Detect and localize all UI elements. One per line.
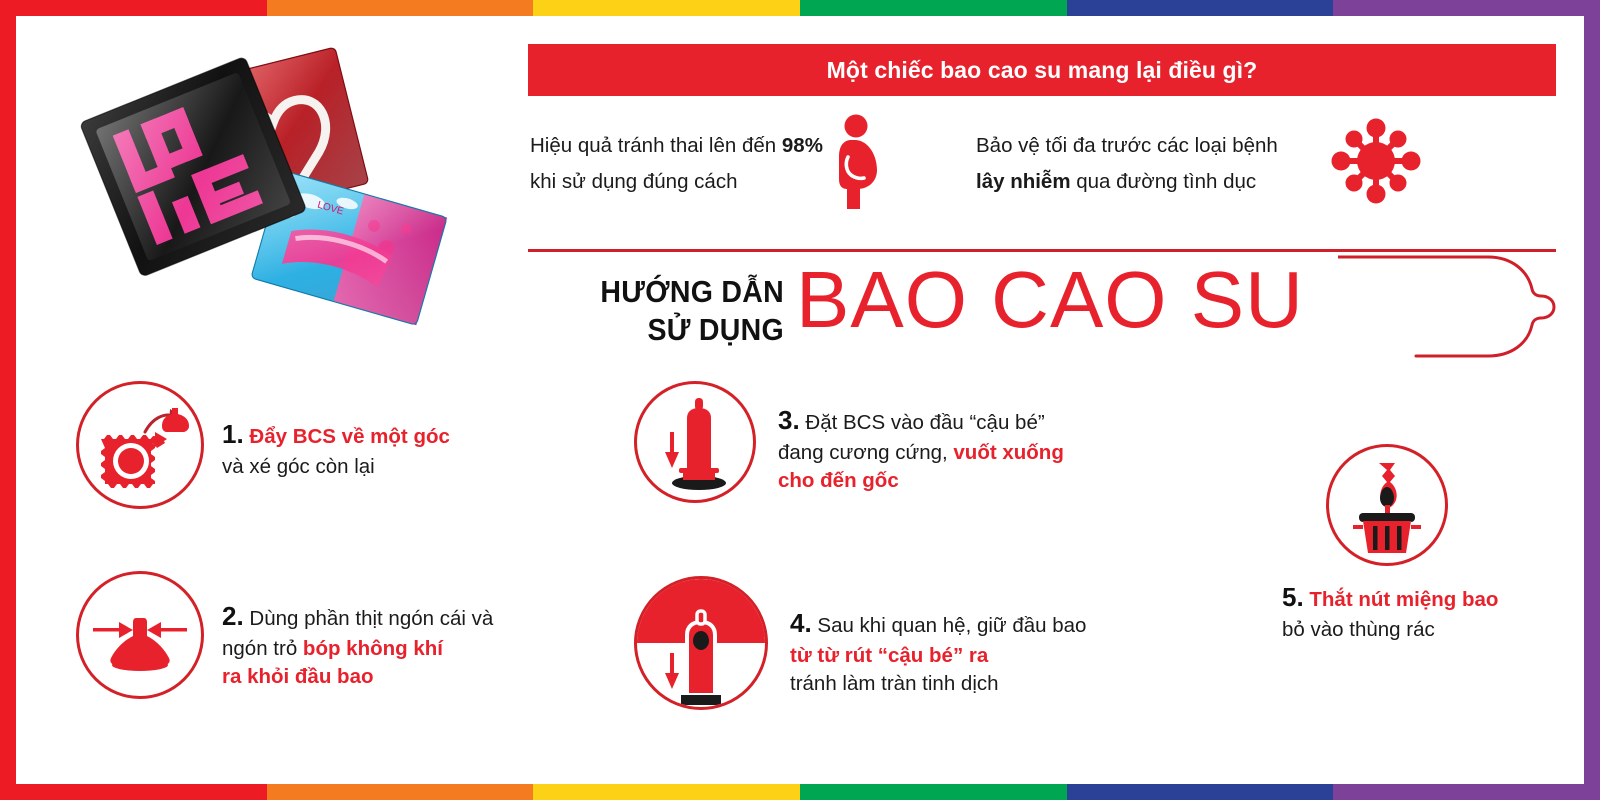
step-3-line2b: vuốt xuống: [953, 441, 1063, 464]
condom-packets-photo: LOVE: [66, 41, 466, 341]
infographic-canvas: LOVE: [16, 16, 1584, 784]
frame-edge-right: [1584, 16, 1600, 784]
stripe-blue: [1067, 0, 1334, 16]
step-5-line2: bỏ vào thùng rác: [1282, 618, 1435, 641]
step-1-icon-circle: [76, 381, 204, 509]
step-2: 2. Dùng phần thịt ngón cái và ngón trỏ b…: [76, 571, 493, 699]
title-kicker-line1: HƯỚNG DẪN: [554, 273, 784, 311]
condom-roll-down-icon: [637, 384, 753, 500]
benefit-sti-line2: qua đường tình dục: [1071, 170, 1257, 193]
stripe-orange: [267, 784, 534, 800]
virus-icon: [1330, 117, 1422, 210]
stripe-purple: [1333, 0, 1600, 16]
step-2-text: 2. Dùng phần thịt ngón cái và ngón trỏ b…: [222, 599, 493, 699]
step-5-icon-circle: [1326, 444, 1448, 566]
stripe-yellow: [533, 784, 800, 800]
stripe-purple: [1333, 784, 1600, 800]
title-bigword: BAO CAO SU: [796, 257, 1304, 343]
step-3: 3. Đặt BCS vào đầu “cậu bé” đang cương c…: [634, 381, 1064, 503]
step-5-text: 5. Thắt nút miệng bao bỏ vào thùng rác: [1282, 580, 1498, 644]
stripe-green: [800, 0, 1067, 16]
step-2-number: 2.: [222, 601, 244, 631]
rainbow-bar-top: [0, 0, 1600, 16]
step-1-line1: Đẩy BCS về một góc: [249, 425, 450, 448]
benefits-row: Hiệu quả tránh thai lên đến 98% khi sử d…: [528, 111, 1558, 216]
step-5-icon-wrap: [1288, 444, 1448, 566]
rainbow-bar-bottom: [0, 784, 1600, 800]
step-3-text: 3. Đặt BCS vào đầu “cậu bé” đang cương c…: [778, 403, 1064, 503]
benefit-pregnancy-text: Hiệu quả tránh thai lên đến 98% khi sử d…: [528, 128, 823, 200]
step-2-line1: Dùng phần thịt ngón cái và: [249, 607, 493, 630]
step-2-icon-circle: [76, 571, 204, 699]
benefit-sti-line1: Bảo vệ tối đa trước các loại bệnh: [976, 134, 1278, 157]
step-5-number: 5.: [1282, 582, 1304, 612]
title-kicker-line2: SỬ DỤNG: [554, 311, 784, 349]
step-1-line2: và xé góc còn lại: [222, 455, 375, 478]
step-3-icon-circle: [634, 381, 756, 503]
step-1: 1. Đẩy BCS về một góc và xé góc còn lại: [76, 381, 450, 509]
step-4-text: 4. Sau khi quan hệ, giữ đầu bao từ từ rú…: [790, 606, 1086, 710]
frame-edge-left: [0, 16, 16, 784]
step-3-number: 3.: [778, 405, 800, 435]
condom-outline-icon: [1338, 239, 1558, 364]
step-4-line2: từ từ rút “cậu bé” ra: [790, 644, 988, 667]
step-4-number: 4.: [790, 608, 812, 638]
step-2-line2b: bóp không khí: [303, 637, 443, 660]
step-2-line3: ra khỏi đầu bao: [222, 665, 374, 688]
stripe-yellow: [533, 0, 800, 16]
step-4-icon-circle: [634, 576, 768, 710]
title-kicker: HƯỚNG DẪN SỬ DỤNG: [554, 273, 784, 349]
condom-packet-tear-icon: [79, 384, 201, 506]
benefit-pregnancy-line1: Hiệu quả tránh thai lên đến: [530, 134, 782, 157]
benefit-pregnancy: Hiệu quả tránh thai lên đến 98% khi sử d…: [528, 113, 953, 214]
step-1-number: 1.: [222, 419, 244, 449]
step-5: 5. Thắt nút miệng bao bỏ vào thùng rác: [1288, 444, 1588, 644]
step-4: 4. Sau khi quan hệ, giữ đầu bao từ từ rú…: [634, 576, 1086, 710]
benefit-pregnancy-line2: khi sử dụng đúng cách: [530, 170, 737, 193]
page-title: Một chiếc bao cao su mang lại điều gì?: [827, 57, 1258, 84]
benefit-sti-text: Bảo vệ tối đa trước các loại bệnh lây nh…: [961, 128, 1278, 200]
step-3-line2a: đang cương cứng,: [778, 441, 953, 464]
rainbow-frame: LOVE: [0, 0, 1600, 800]
stripe-blue: [1067, 784, 1334, 800]
pregnant-woman-icon: [823, 113, 889, 214]
benefit-pregnancy-stat: 98%: [782, 134, 823, 157]
benefit-sti: Bảo vệ tối đa trước các loại bệnh lây nh…: [961, 117, 1451, 210]
knot-and-trash-icon: [1329, 447, 1445, 563]
step-4-line3: tránh làm tràn tinh dịch: [790, 672, 999, 695]
step-3-line1: Đặt BCS vào đầu “cậu bé”: [805, 411, 1044, 434]
step-4-line1: Sau khi quan hệ, giữ đầu bao: [817, 614, 1086, 637]
step-3-line3: cho đến gốc: [778, 469, 899, 492]
benefit-sti-emphasis: lây nhiễm: [976, 170, 1071, 193]
header-banner: Một chiếc bao cao su mang lại điều gì?: [528, 44, 1556, 96]
pinch-tip-arrows-icon: [79, 574, 201, 696]
stripe-green: [800, 784, 1067, 800]
step-2-line2a: ngón trỏ: [222, 637, 303, 660]
hold-base-withdraw-icon: [637, 579, 765, 707]
stripe-red: [0, 0, 267, 16]
stripe-orange: [267, 0, 534, 16]
step-1-text: 1. Đẩy BCS về một góc và xé góc còn lại: [222, 417, 450, 509]
stripe-red: [0, 784, 267, 800]
frame-middle: LOVE: [0, 16, 1600, 784]
step-5-line1: Thắt nút miệng bao: [1309, 588, 1498, 611]
main-title-block: HƯỚNG DẪN SỬ DỤNG BAO CAO SU: [528, 261, 1558, 371]
